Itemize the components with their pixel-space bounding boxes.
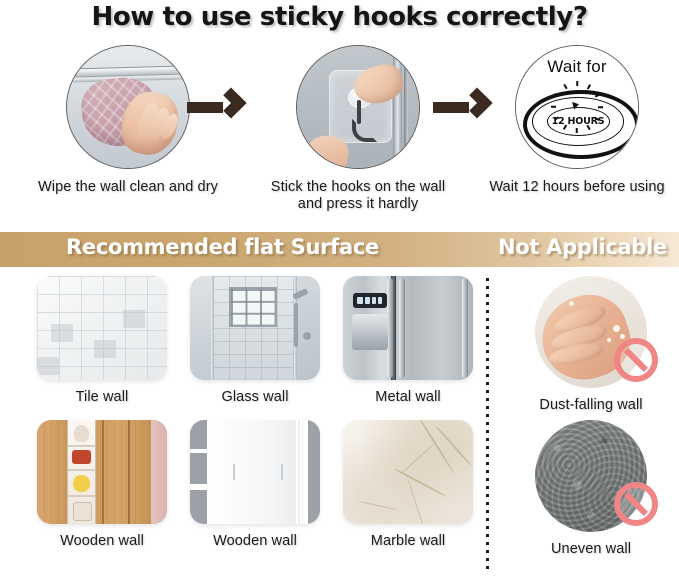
glass-wall-caption: Glass wall bbox=[190, 389, 320, 405]
fridge-water-dispenser bbox=[352, 314, 388, 349]
wardrobe-side-shelf bbox=[190, 453, 207, 484]
step-2-caption: Stick the hooks on the wall and press it… bbox=[248, 179, 468, 213]
surface-cell-glass-wall: Glass wall bbox=[190, 276, 320, 405]
clock-duration-label: 12 HOURS bbox=[552, 116, 605, 127]
step-3: Wait for 12 HOURS Wait 12 hours before u… bbox=[477, 45, 677, 196]
wooden-wall-image-2 bbox=[190, 420, 320, 524]
tile-shade bbox=[94, 340, 116, 358]
clock-duration-oval: 12 HOURS bbox=[547, 107, 610, 136]
shelving-unit bbox=[67, 420, 96, 524]
surface-cell-uneven-wall: Uneven wall bbox=[521, 420, 661, 557]
fridge-handle bbox=[462, 278, 468, 378]
surface-cell-metal-wall: Metal wall bbox=[343, 276, 473, 405]
clock-tick bbox=[551, 106, 556, 108]
marble-wall-caption: Marble wall bbox=[343, 533, 473, 549]
clock-tick bbox=[598, 106, 603, 108]
step-1-caption: Wipe the wall clean and dry bbox=[18, 179, 238, 196]
door-edge-secondary bbox=[404, 46, 408, 168]
shelf-divider bbox=[68, 495, 95, 497]
step-3-caption: Wait 12 hours before using bbox=[477, 179, 677, 196]
banner-not-applicable-label: Not Applicable bbox=[498, 235, 667, 259]
surface-banner: Recommended flat Surface Not Applicable bbox=[0, 232, 679, 267]
shower-riser bbox=[294, 303, 298, 347]
shelf-divider bbox=[68, 445, 95, 447]
wardrobe-handle bbox=[233, 464, 235, 481]
fridge-display-led bbox=[357, 297, 362, 304]
prohibition-sign-icon bbox=[614, 482, 658, 526]
wardrobe-side-panel bbox=[308, 420, 320, 524]
fridge-handle bbox=[387, 278, 393, 378]
steps-row: Wipe the wall clean and dry Stick the ho… bbox=[0, 45, 679, 215]
step-2-image bbox=[296, 45, 420, 169]
step-2: Stick the hooks on the wall and press it… bbox=[248, 45, 468, 213]
step-3-image: Wait for 12 HOURS bbox=[515, 45, 639, 169]
wooden-wall-caption-2: Wooden wall bbox=[190, 533, 320, 549]
background-wall bbox=[151, 420, 167, 524]
dust-particle bbox=[569, 301, 574, 306]
shower-window bbox=[229, 287, 277, 326]
tile-shade bbox=[123, 310, 145, 328]
metal-wall-caption: Metal wall bbox=[343, 389, 473, 405]
door-edge bbox=[393, 46, 402, 168]
dust-falling-wall-caption: Dust-falling wall bbox=[521, 397, 661, 413]
fridge-display-led bbox=[365, 297, 370, 304]
metal-wall-image bbox=[343, 276, 473, 380]
step-1-image bbox=[66, 45, 190, 169]
wardrobe-slats bbox=[294, 420, 303, 524]
wardrobe-doors bbox=[207, 420, 303, 524]
wooden-wall-caption-1: Wooden wall bbox=[37, 533, 167, 549]
wardrobe-side-shelf bbox=[190, 490, 207, 524]
wardrobe-side-shelf bbox=[190, 420, 207, 449]
arrow-head bbox=[215, 87, 246, 118]
surface-cell-wooden-wall-2: Wooden wall bbox=[190, 420, 320, 549]
marble-wall-image bbox=[343, 420, 473, 524]
shelf-toy bbox=[73, 475, 89, 492]
wood-panel-seam bbox=[102, 420, 104, 524]
section-divider bbox=[486, 278, 489, 570]
shelf-divider bbox=[68, 469, 95, 471]
tile-wall-caption: Tile wall bbox=[37, 389, 167, 405]
wooden-wall-image-1 bbox=[37, 420, 167, 524]
dust-particle bbox=[607, 338, 611, 342]
surface-cell-dust-falling-wall: Dust-falling wall bbox=[521, 276, 661, 413]
glass-wall-image bbox=[190, 276, 320, 380]
fridge-display-led bbox=[378, 297, 383, 304]
wardrobe-handle bbox=[281, 464, 283, 481]
surface-cell-marble-wall: Marble wall bbox=[343, 420, 473, 549]
fridge-handle bbox=[399, 278, 405, 378]
glass-door-edge bbox=[211, 276, 214, 380]
shelf-toy bbox=[74, 425, 89, 442]
fridge-control-panel bbox=[353, 293, 387, 309]
arrow-right-icon-1 bbox=[187, 85, 245, 129]
tile-shade bbox=[37, 357, 59, 375]
clock-tick bbox=[576, 81, 578, 86]
wood-panel-seam bbox=[128, 420, 130, 524]
shelf-toy bbox=[72, 450, 92, 464]
uneven-wall-caption: Uneven wall bbox=[521, 541, 661, 557]
banner-recommended-label: Recommended flat Surface bbox=[66, 235, 379, 259]
surface-cell-tile-wall: Tile wall bbox=[37, 276, 167, 405]
tile-shade bbox=[51, 324, 73, 342]
fridge-display-led bbox=[372, 297, 375, 304]
prohibition-sign-icon bbox=[614, 338, 658, 382]
tile-wall-image bbox=[37, 276, 167, 380]
surface-cell-wooden-wall-1: Wooden wall bbox=[37, 420, 167, 549]
page-title: How to use sticky hooks correctly? bbox=[0, 2, 679, 32]
clock-wait-label: Wait for bbox=[516, 57, 638, 77]
shelf-book bbox=[73, 502, 92, 521]
